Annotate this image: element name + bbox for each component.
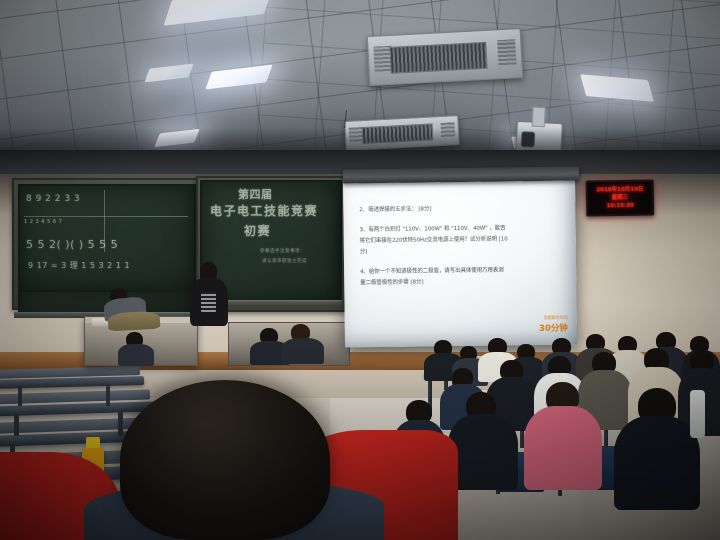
- classroom-scene: 8 9 2 2 3 3 1 2 3 4 5 6 7 5 5 2( )( ) 5 …: [0, 0, 720, 540]
- student-seated: [524, 382, 602, 488]
- bench-leg: [118, 412, 123, 436]
- coat-on-podium: [108, 311, 161, 332]
- question-line: 2、简述焊接的五步法； [8分]: [359, 203, 561, 216]
- student-seated: [282, 324, 324, 362]
- student-body: [282, 338, 324, 364]
- bottle-cap: [86, 437, 100, 448]
- bench-leg: [14, 414, 19, 436]
- foreground-student-head: [120, 380, 330, 540]
- exam-title-line2: 电子电工技能竞赛: [210, 202, 318, 219]
- led-clock-display: 2018年10月10日 星期三 10:19:30: [586, 179, 655, 216]
- screen-roller-case: [343, 167, 579, 184]
- exam-note-line1: 参赛选手注意事项：: [260, 248, 305, 254]
- student-body: [448, 414, 518, 490]
- person-leaning-at-podium: [104, 284, 164, 334]
- student-body: [524, 406, 602, 490]
- person-standing-invigilator: [190, 262, 230, 328]
- projection-screen: 2、简述焊接的五步法； [8分] 3、有两个白炽灯 "110V、100W" 和 …: [343, 179, 577, 348]
- remaining-time-value: 30分钟: [539, 324, 568, 334]
- ac-grill: [390, 41, 488, 73]
- exam-title-line1: 第四届: [238, 186, 273, 202]
- blackboard-left: 8 9 2 2 3 3 1 2 3 4 5 6 7 5 5 2( )( ) 5 …: [18, 184, 196, 292]
- chalk-note-line: 8 9 2 2 3 3: [26, 194, 80, 204]
- chalk-note-line: 9 17 = 3 理 1 5 3 2 1 1: [28, 260, 130, 271]
- remaining-time-label: 答题剩余时间: [539, 315, 568, 321]
- water-bottle: [690, 390, 705, 438]
- question-item: 3、有两个白炽灯 "110V、100W" 和 "110V、40W" ，能否 将它…: [360, 223, 562, 258]
- chalk-note-line: 1 2 3 4 5 6 7: [24, 219, 62, 225]
- air-conditioner-icon: [367, 28, 523, 86]
- projector-mount: [532, 107, 546, 128]
- student-seated: [448, 392, 518, 488]
- remaining-time-badge: 答题剩余时间 30分钟: [539, 315, 568, 334]
- exam-title-line3: 初赛: [244, 222, 271, 239]
- chalk-note-line: 5 5 2( )( ) 5 5 5: [26, 238, 118, 251]
- student-seated: [118, 332, 154, 362]
- bench-leg: [18, 386, 22, 406]
- question-line: 量二极管极性的步骤 [8分]: [360, 276, 562, 289]
- student-seated: [614, 388, 700, 508]
- question-item: 4、给你一个不知道极性的二极管，请写出具体使用万用表测 量二极管极性的步骤 [8…: [360, 265, 562, 289]
- shirt-graphic: [201, 292, 216, 312]
- bench-leg: [106, 384, 110, 406]
- chalk-divider: [24, 216, 188, 217]
- exam-note-line2: 请认真审题独立完成: [262, 258, 307, 264]
- student-body: [118, 344, 154, 366]
- student-body: [614, 416, 700, 510]
- ac-vane: [497, 39, 517, 68]
- led-time: 10:19:30: [606, 202, 634, 210]
- question-item: 2、简述焊接的五步法； [8分]: [359, 203, 561, 216]
